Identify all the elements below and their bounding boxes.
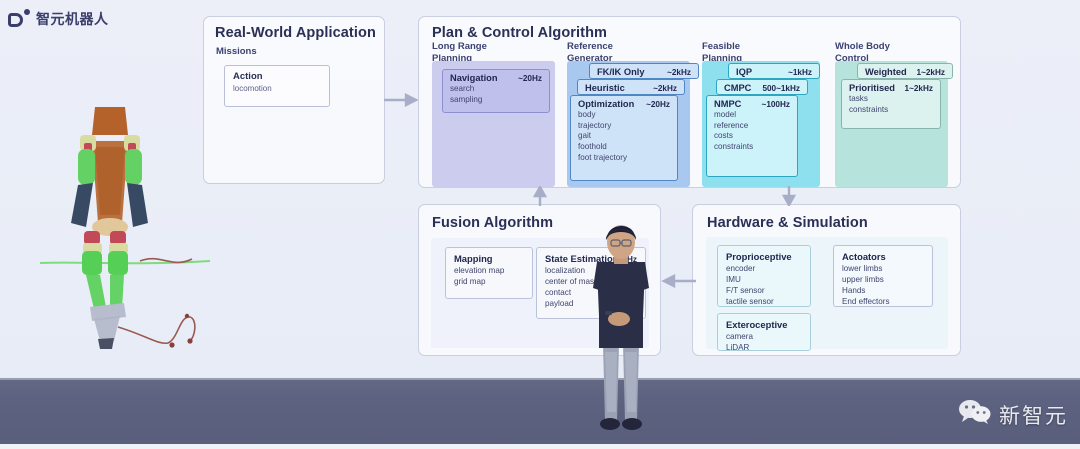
presentation-stage: 智元机器人 <box>0 0 1080 444</box>
watermark-text: 新智元 <box>999 400 1068 430</box>
block-nmpc: NMPC~100Hzmodel reference costs constrai… <box>706 95 798 177</box>
block-rate: ~20Hz <box>646 100 670 109</box>
block-optimization: Optimization~20Hzbody trajectory gait fo… <box>570 95 678 181</box>
hardware-prop-title: Proprioceptive <box>726 251 802 262</box>
panel-hardware-simulation: Hardware & Simulation Proprioceptive enc… <box>692 204 961 356</box>
arrow-fusion-to-plan <box>533 186 547 211</box>
plan-control-column-1: Long Range PlanningNavigation~20Hzsearch… <box>432 61 555 187</box>
block-rate: ~2kHz <box>667 68 691 77</box>
watermark: 新智元 <box>958 399 1068 430</box>
block-prioritised: Prioritised1~2kHztasks constraints <box>841 79 941 129</box>
block-navigation: Navigation~20Hzsearch sampling <box>442 69 550 113</box>
block-items: tasks constraints <box>849 94 933 115</box>
block-name: Heuristic <box>585 83 625 93</box>
stage-floor <box>0 378 1080 444</box>
rwa-section-label: Missions <box>216 46 257 57</box>
hardware-title: Hardware & Simulation <box>707 215 868 231</box>
hardware-prop-items: encoder IMU F/T sensor tactile sensor <box>726 264 802 307</box>
block-name: Optimization <box>578 99 634 109</box>
hardware-ext-items: camera LiDAR <box>726 332 802 354</box>
block-rate: 1~2kHz <box>917 68 945 77</box>
block-heuristic: Heuristic~2kHz <box>577 79 685 95</box>
block-items: model reference costs constraints <box>714 110 790 153</box>
block-name: Prioritised <box>849 83 895 93</box>
hardware-block-exteroceptive: Exteroceptive camera LiDAR <box>717 313 811 351</box>
panel-real-world-application: Real-World Application Missions Action l… <box>203 16 385 184</box>
hardware-act-items: lower limbs upper limbs Hands End effect… <box>842 264 924 307</box>
plan-control-column-3: Feasible PlanningIQP~1kHzCMPC500~1kHzNMP… <box>702 61 820 187</box>
fusion-mapping-title: Mapping <box>454 253 524 264</box>
panel-plan-control-algorithm: Plan & Control Algorithm Long Range Plan… <box>418 16 961 188</box>
block-name: Navigation <box>450 73 498 83</box>
hardware-block-proprioceptive: Proprioceptive encoder IMU F/T sensor ta… <box>717 245 811 307</box>
hardware-block-actuators: Actoators lower limbs upper limbs Hands … <box>833 245 933 307</box>
plan-control-column-4: Whole Body ControlWeighted1~2kHzPrioriti… <box>835 61 948 187</box>
plan-control-column-2: Reference GeneratorFK/IK Only~2kHzHeuris… <box>567 61 690 187</box>
rwa-action-title: Action <box>233 71 321 82</box>
rwa-action-items: locomotion <box>233 84 321 93</box>
rwa-title: Real-World Application <box>215 25 376 41</box>
fusion-mapping-items: elevation map grid map <box>454 266 524 288</box>
arrow-app-to-plan <box>384 93 422 112</box>
presenter <box>575 222 667 444</box>
block-rate: 500~1kHz <box>762 84 800 93</box>
rwa-action-card: Action locomotion <box>224 65 330 107</box>
brand-logo: 智元机器人 <box>8 8 109 30</box>
humanoid-robot-simulation <box>40 95 210 360</box>
fusion-title: Fusion Algorithm <box>432 215 553 231</box>
brand-name: 智元机器人 <box>36 9 109 29</box>
block-name: NMPC <box>714 99 741 109</box>
block-weighted: Weighted1~2kHz <box>857 63 953 79</box>
block-iqp: IQP~1kHz <box>728 63 820 79</box>
block-fk-ik-only: FK/IK Only~2kHz <box>589 63 699 79</box>
block-name: Weighted <box>865 67 907 77</box>
block-rate: ~1kHz <box>788 68 812 77</box>
block-rate: ~100Hz <box>762 100 790 109</box>
block-cmpc: CMPC500~1kHz <box>716 79 808 95</box>
block-name: CMPC <box>724 83 751 93</box>
zhiyuan-logo-icon <box>8 8 30 30</box>
hardware-ext-title: Exteroceptive <box>726 319 802 330</box>
block-name: IQP <box>736 67 752 77</box>
block-items: search sampling <box>450 84 542 105</box>
pca-title: Plan & Control Algorithm <box>432 25 607 41</box>
block-name: FK/IK Only <box>597 67 645 77</box>
block-items: body trajectory gait foothold foot traje… <box>578 110 670 163</box>
wechat-icon <box>958 399 992 430</box>
hardware-act-title: Actoators <box>842 251 924 262</box>
block-rate: 1~2kHz <box>905 84 933 93</box>
arrow-plan-to-hardware <box>782 186 796 211</box>
block-rate: ~20Hz <box>518 74 542 83</box>
fusion-block-mapping: Mapping elevation map grid map <box>445 247 533 299</box>
block-rate: ~2kHz <box>653 84 677 93</box>
